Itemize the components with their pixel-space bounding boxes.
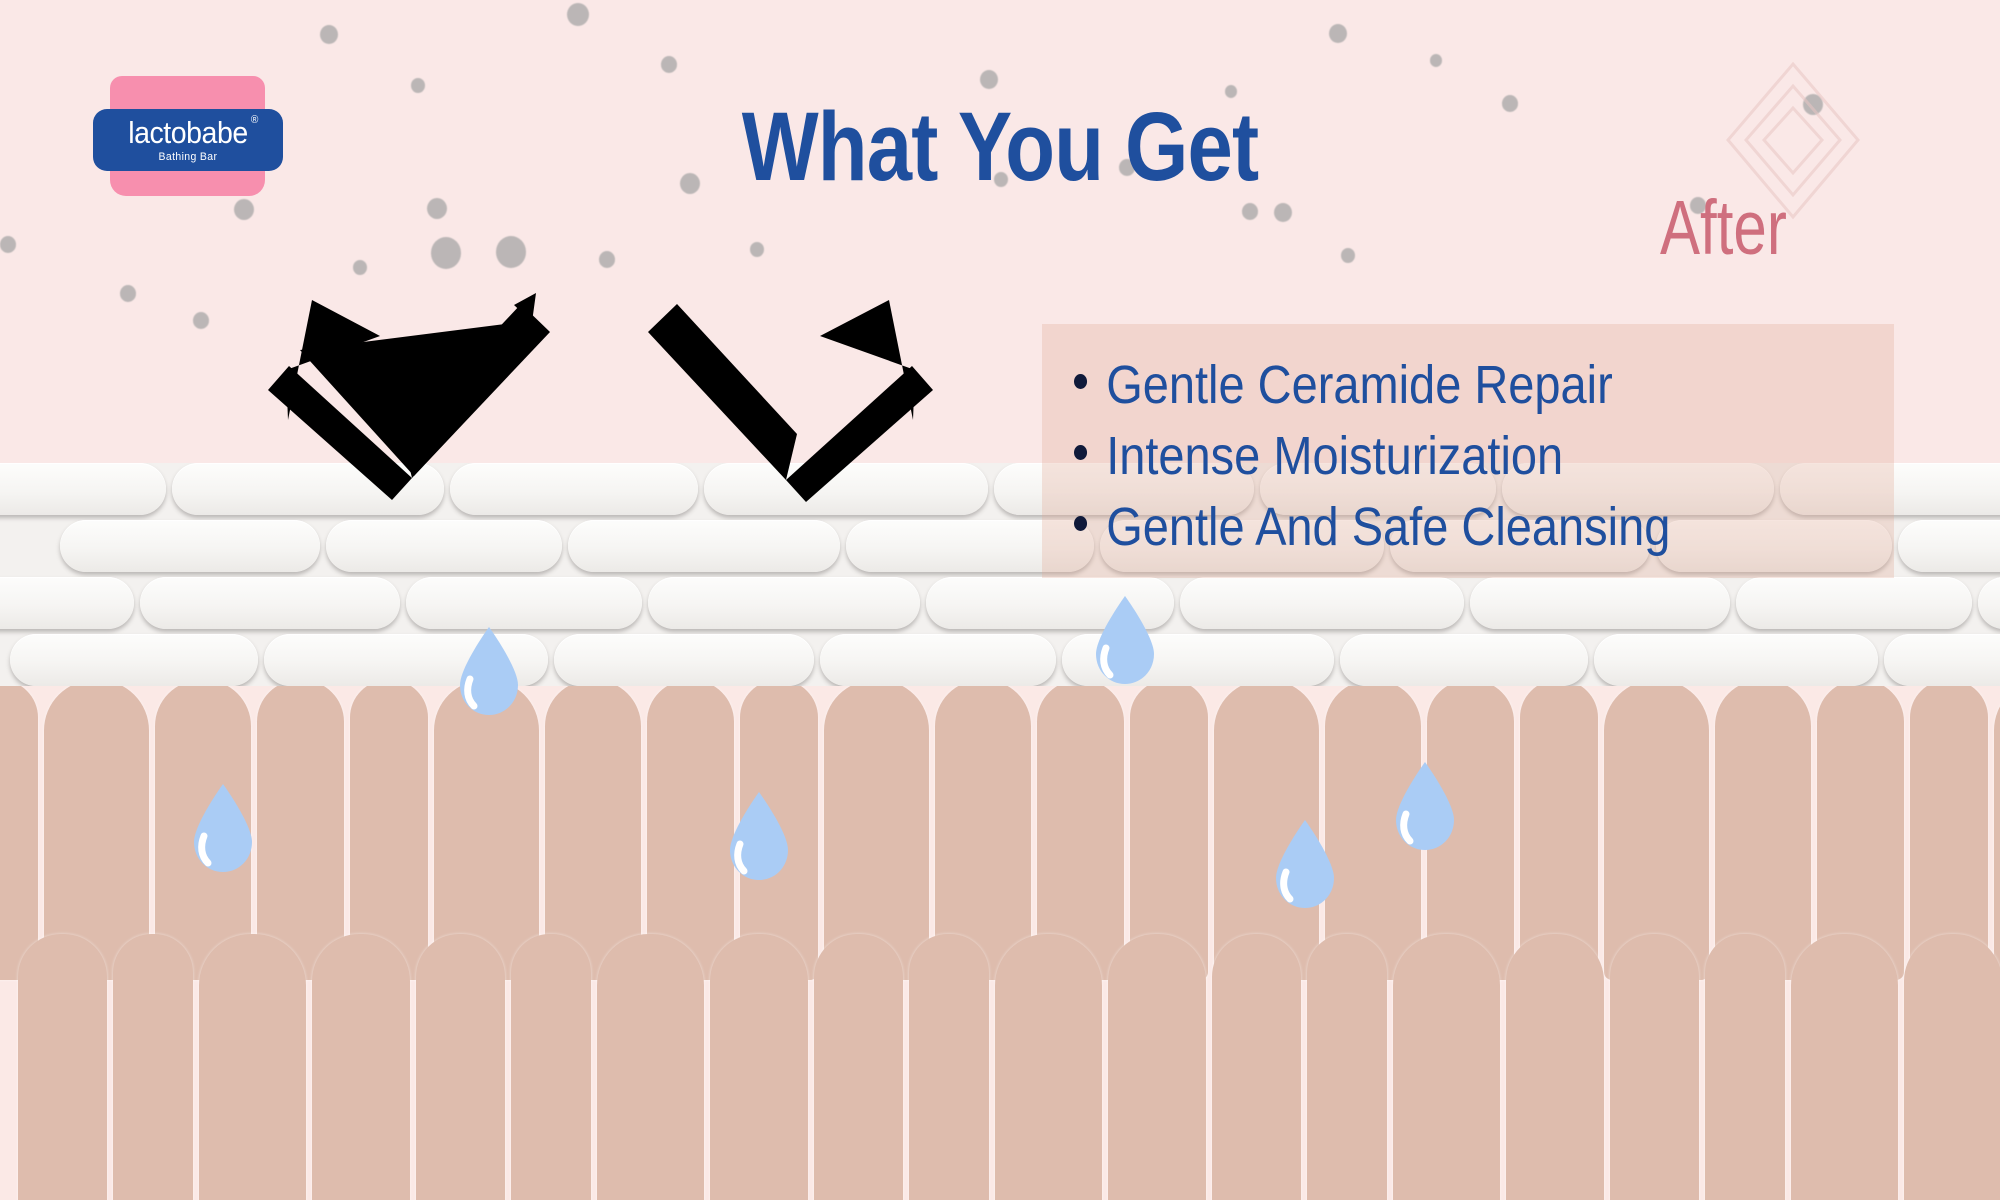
list-item: Gentle And Safe Cleansing — [1074, 492, 1787, 563]
epidermal-cell — [995, 934, 1102, 1200]
epidermal-cell-layer — [0, 686, 2000, 1200]
speckle-dot — [0, 236, 16, 253]
speckle-dot — [1341, 248, 1355, 263]
corneocyte-brick — [1594, 634, 1878, 686]
epidermal-cell — [1791, 934, 1898, 1200]
speckle-dot — [1329, 24, 1347, 43]
speckle-dot — [193, 312, 209, 329]
cell-row — [0, 934, 2000, 1200]
benefits-panel: Gentle Ceramide Repair Intense Moisturiz… — [1042, 324, 1894, 578]
epidermal-cell — [1610, 934, 1699, 1200]
list-item: Intense Moisturization — [1074, 421, 1787, 492]
corneocyte-brick — [1898, 520, 2000, 572]
benefit-text: Gentle Ceramide Repair — [1106, 350, 1613, 421]
corneocyte-brick — [0, 463, 166, 515]
epidermal-cell — [113, 934, 193, 1200]
corneocyte-brick — [1470, 577, 1730, 629]
benefits-list: Gentle Ceramide Repair Intense Moisturiz… — [1074, 350, 1894, 563]
corneocyte-brick — [554, 634, 814, 686]
epidermal-cell — [1212, 934, 1301, 1200]
infographic-canvas: lactobabe® Bathing Bar What You Get Afte… — [0, 0, 2000, 1200]
epidermal-cell — [909, 934, 989, 1200]
corneocyte-brick — [140, 577, 400, 629]
corneocyte-brick — [820, 634, 1056, 686]
speckle-dot — [1274, 203, 1292, 222]
speckle-dot — [120, 285, 136, 302]
corneocyte-brick — [450, 463, 698, 515]
epidermal-cell — [1393, 934, 1500, 1200]
corneocyte-brick — [1180, 577, 1464, 629]
speckle-dot — [980, 70, 998, 89]
epidermal-cell — [511, 934, 591, 1200]
corneocyte-brick — [704, 463, 988, 515]
speckle-dot — [234, 199, 254, 220]
epidermal-cell — [597, 934, 704, 1200]
epidermal-cell — [1307, 934, 1387, 1200]
water-droplet-icon — [1092, 594, 1158, 686]
corneocyte-brick — [568, 520, 840, 572]
speckle-dot — [353, 260, 367, 275]
speckle-dot — [661, 56, 677, 73]
corneocyte-row — [0, 577, 2000, 633]
epidermal-cell — [416, 934, 505, 1200]
corneocyte-brick — [0, 577, 134, 629]
corneocyte-brick — [1736, 577, 1972, 629]
speckle-dot — [1430, 54, 1442, 67]
water-droplet-icon — [456, 625, 522, 717]
water-droplet-icon — [190, 782, 256, 874]
speckle-dot — [599, 251, 615, 268]
epidermal-cell — [199, 934, 306, 1200]
speckle-dot — [411, 78, 425, 93]
deflection-arrow-right-body — [648, 304, 797, 480]
water-droplet-icon — [726, 790, 792, 882]
corneocyte-brick — [648, 577, 920, 629]
epidermal-cell — [1904, 934, 2000, 1200]
bullet-icon — [1074, 516, 1087, 531]
corneocyte-brick — [1340, 634, 1588, 686]
list-item: Gentle Ceramide Repair — [1074, 350, 1787, 421]
epidermal-cell — [710, 934, 808, 1200]
deflection-arrow-right-arrowhead — [820, 300, 915, 420]
epidermal-cell — [1506, 934, 1604, 1200]
speckle-dot — [496, 236, 526, 268]
speckle-dot — [750, 242, 764, 257]
epidermal-cell — [312, 934, 410, 1200]
speckle-dot — [1242, 203, 1258, 220]
epidermal-cell — [18, 934, 107, 1200]
stage-label-after: After — [1660, 190, 1787, 267]
corneocyte-row — [0, 634, 2000, 688]
speckle-dot — [320, 25, 338, 44]
bullet-icon — [1074, 374, 1087, 389]
deflection-arrow-left-body — [401, 304, 550, 478]
corneocyte-brick — [60, 520, 320, 572]
speckle-dot — [431, 237, 461, 269]
corneocyte-brick — [326, 520, 562, 572]
page-title: What You Get — [160, 98, 1840, 195]
deflection-arrow-left — [300, 293, 546, 476]
corneocyte-brick — [406, 577, 642, 629]
corneocyte-brick — [1978, 577, 2000, 629]
bullet-icon — [1074, 445, 1087, 460]
speckle-dot — [427, 198, 447, 219]
epidermal-cell — [1108, 934, 1206, 1200]
benefit-text: Intense Moisturization — [1106, 421, 1563, 492]
speckle-dot — [567, 3, 589, 26]
corneocyte-brick — [1884, 634, 2000, 686]
water-droplet-icon — [1392, 760, 1458, 852]
epidermal-cell — [814, 934, 903, 1200]
corneocyte-brick — [172, 463, 444, 515]
corneocyte-brick — [10, 634, 258, 686]
benefit-text: Gentle And Safe Cleansing — [1106, 492, 1670, 563]
epidermal-cell — [1705, 934, 1785, 1200]
water-droplet-icon — [1272, 818, 1338, 910]
deflection-arrow-left-arrowhead — [286, 300, 380, 420]
